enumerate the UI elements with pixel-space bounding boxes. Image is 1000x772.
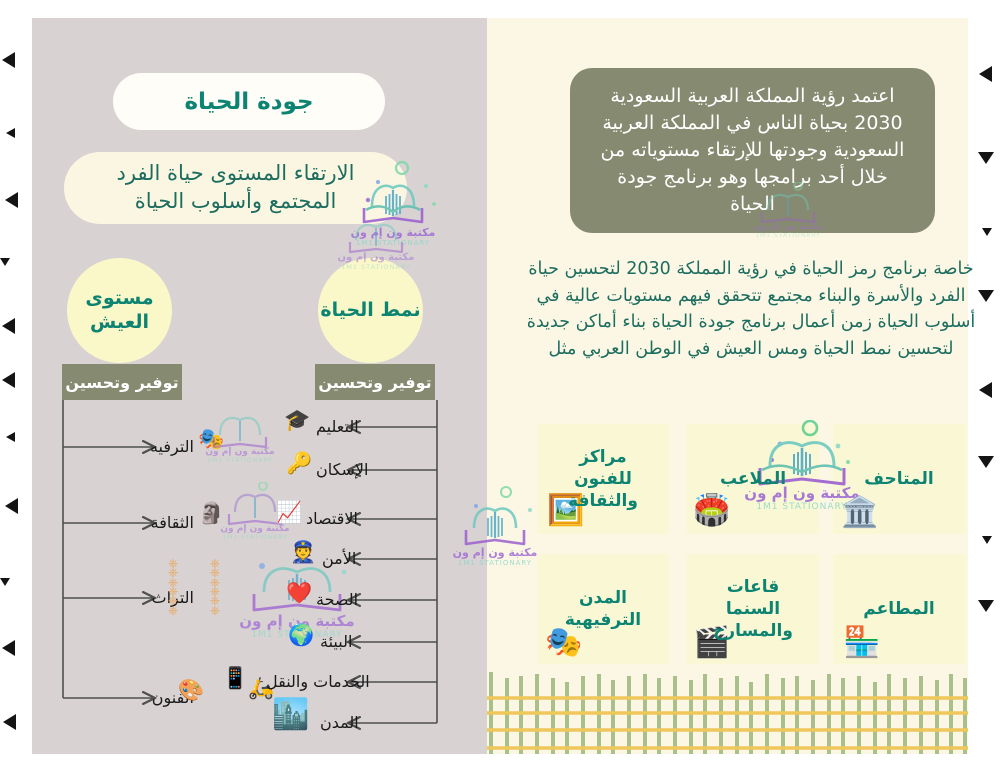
keys-icon: 🔑 (286, 453, 312, 474)
branch-left-item-1-label: الثقافة (151, 513, 194, 532)
page-title-pill: جودة الحياة (113, 73, 385, 130)
page-title: جودة الحياة (184, 89, 313, 115)
card-entertainment-cities[interactable]: 🎭 المدن الترفيهية (537, 554, 669, 664)
chart-growth-icon: 📈 (276, 502, 302, 523)
branch-right-item-5-label: البيئة (320, 632, 352, 651)
edge-marker-left-10 (2, 640, 15, 656)
restaurant-icon: 🏪 (843, 628, 880, 658)
museum-icon: 🏛️ (841, 498, 878, 528)
edge-marker-left-1 (2, 52, 15, 68)
edge-marker-left-2 (6, 128, 15, 138)
edge-marker-left-4 (0, 258, 10, 266)
edge-marker-left-11 (3, 714, 16, 730)
circle-life-style-label: نمط الحياة (320, 299, 420, 323)
edge-marker-right-8 (978, 600, 994, 612)
theater-masks-icon: 🎭 (198, 429, 224, 450)
card-stadiums-label: الملاعب (708, 468, 798, 490)
branch-right-item-0-label: التعليم (316, 417, 359, 436)
edge-marker-right-1 (979, 66, 992, 82)
bar-provide-improve-right-label: توفير وتحسين (318, 373, 431, 392)
edge-marker-left-8 (5, 498, 18, 514)
environment-globe-icon: 🌍 (288, 625, 314, 646)
branch-right-item-0: التعليم (316, 419, 380, 435)
edge-marker-left-6 (2, 372, 15, 388)
police-officer-icon: 👮 (290, 542, 316, 563)
vision-highlight-text: اعتمد رؤية المملكة العربية السعودية 2030… (570, 83, 935, 218)
card-museums-label: المتاحف (852, 468, 945, 490)
branch-left-item-0: الترفيه (132, 439, 194, 455)
stadium-icon: 🏟️ (693, 496, 730, 526)
card-arts-culture-centers[interactable]: 🖼️ مراكز للفنون والثقافة (537, 424, 669, 534)
edge-marker-right-3 (982, 228, 992, 236)
branch-right-item-7: المدن (320, 715, 380, 731)
edge-marker-right-5 (979, 382, 992, 398)
branch-right-item-3: الأمن (322, 551, 380, 567)
vision-paragraph: خاصة برنامج رمز الحياة في رؤية المملكة 2… (517, 256, 985, 362)
fence-svg-icon (487, 672, 968, 754)
edge-marker-left-3 (5, 192, 18, 208)
branch-right-item-5: البيئة (320, 634, 380, 650)
culture-mask-icon: 🗿 (198, 503, 224, 524)
graduation-cap-icon: 🎓 (284, 410, 310, 431)
card-cinema-theaters[interactable]: 🎬 قاعات السنما والمسارح (687, 554, 819, 664)
branch-right-item-6: الخدمات والنقل (266, 674, 380, 690)
edge-marker-left-7 (6, 432, 15, 442)
branch-right-item-7-label: المدن (320, 713, 359, 732)
card-restaurants[interactable]: 🏪 المطاعم (833, 554, 965, 664)
edge-marker-right-6 (978, 456, 994, 468)
branch-right-item-2-label: الاقتصاد (306, 509, 358, 528)
branch-right-item-2: الاقتصاد (306, 511, 380, 527)
card-restaurants-label: المطاعم (851, 598, 947, 620)
branch-left-item-0-label: الترفيه (150, 437, 194, 456)
art-palette-icon: 🎨 (178, 680, 204, 701)
branch-left-item-1: الثقافة (132, 515, 194, 531)
branch-right-item-6-label: الخدمات والنقل (266, 672, 370, 691)
bar-provide-improve-right: توفير وتحسين (315, 364, 435, 400)
card-cinema-theaters-label: قاعات السنما والمسارح (687, 576, 819, 642)
subtitle-text: الارتقاء المستوى حياة الفرد المجتمع وأسل… (64, 160, 407, 215)
branch-right-item-1: الإسكان (316, 462, 380, 478)
edge-marker-right-2 (978, 152, 994, 164)
card-museums[interactable]: 🏛️ المتاحف (833, 424, 965, 534)
delivery-scooter-icon: 📱 (222, 668, 248, 689)
subtitle-banner: الارتقاء المستوى حياة الفرد المجتمع وأسل… (64, 152, 407, 224)
infographic-canvas: جودة الحياة الارتقاء المستوى حياة الفرد … (0, 0, 1000, 772)
fence-decoration (487, 672, 968, 754)
health-heart-icon: ❤️ (286, 583, 312, 604)
branch-right-item-1-label: الإسكان (316, 460, 368, 479)
edge-marker-left-9 (0, 578, 10, 586)
heritage-pattern-icon: ❈❈❈❈❈❈ ❈❈❈❈❈❈ (168, 560, 220, 616)
theater-masks-icon: 🎭 (545, 628, 582, 658)
edge-marker-left-5 (2, 318, 15, 334)
bar-provide-improve-left-label: توفير وتحسين (65, 373, 178, 392)
city-buildings-icon: 🏙️ (272, 700, 309, 730)
vision-highlight-box: اعتمد رؤية المملكة العربية السعودية 2030… (570, 68, 935, 233)
card-entertainment-cities-label: المدن الترفيهية (537, 587, 669, 631)
circle-life-style: نمط الحياة (318, 258, 423, 363)
card-arts-culture-centers-label: مراكز للفنون والثقافة (537, 446, 669, 512)
branch-right-item-4: الصحة (316, 592, 380, 608)
branch-right-item-3-label: الأمن (322, 549, 356, 568)
bar-provide-improve-left: توفير وتحسين (62, 364, 182, 400)
card-stadiums[interactable]: 🏟️ الملاعب (687, 424, 819, 534)
branch-right-item-4-label: الصحة (316, 590, 358, 609)
circle-living-standard-label: مستوى العيش (67, 287, 172, 334)
edge-marker-right-7 (982, 536, 992, 544)
circle-living-standard: مستوى العيش (67, 258, 172, 363)
